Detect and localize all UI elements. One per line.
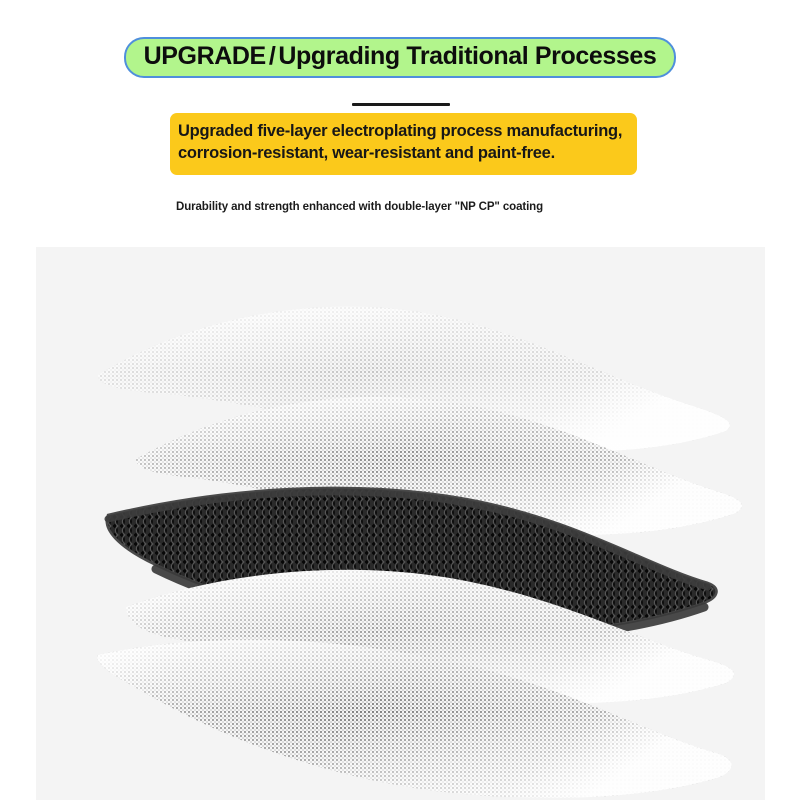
- badge-separator: /: [266, 42, 279, 70]
- badge-rest-label: Upgrading Traditional Processes: [278, 42, 656, 70]
- header-badge-row: UPGRADE/Upgrading Traditional Processes: [0, 37, 800, 78]
- page-title-badge: UPGRADE/Upgrading Traditional Processes: [124, 37, 677, 78]
- sub-caption: Durability and strength enhanced with do…: [176, 201, 543, 213]
- callout-text: Upgraded five-layer electroplating proce…: [178, 121, 625, 165]
- layer-stack-illustration: [36, 247, 765, 800]
- callout-box: Upgraded five-layer electroplating proce…: [170, 113, 637, 175]
- divider-rule: [352, 103, 450, 106]
- page-root: UPGRADE/Upgrading Traditional Processes …: [0, 0, 800, 800]
- illustration-panel: [36, 247, 765, 800]
- badge-strong-label: UPGRADE: [144, 42, 266, 70]
